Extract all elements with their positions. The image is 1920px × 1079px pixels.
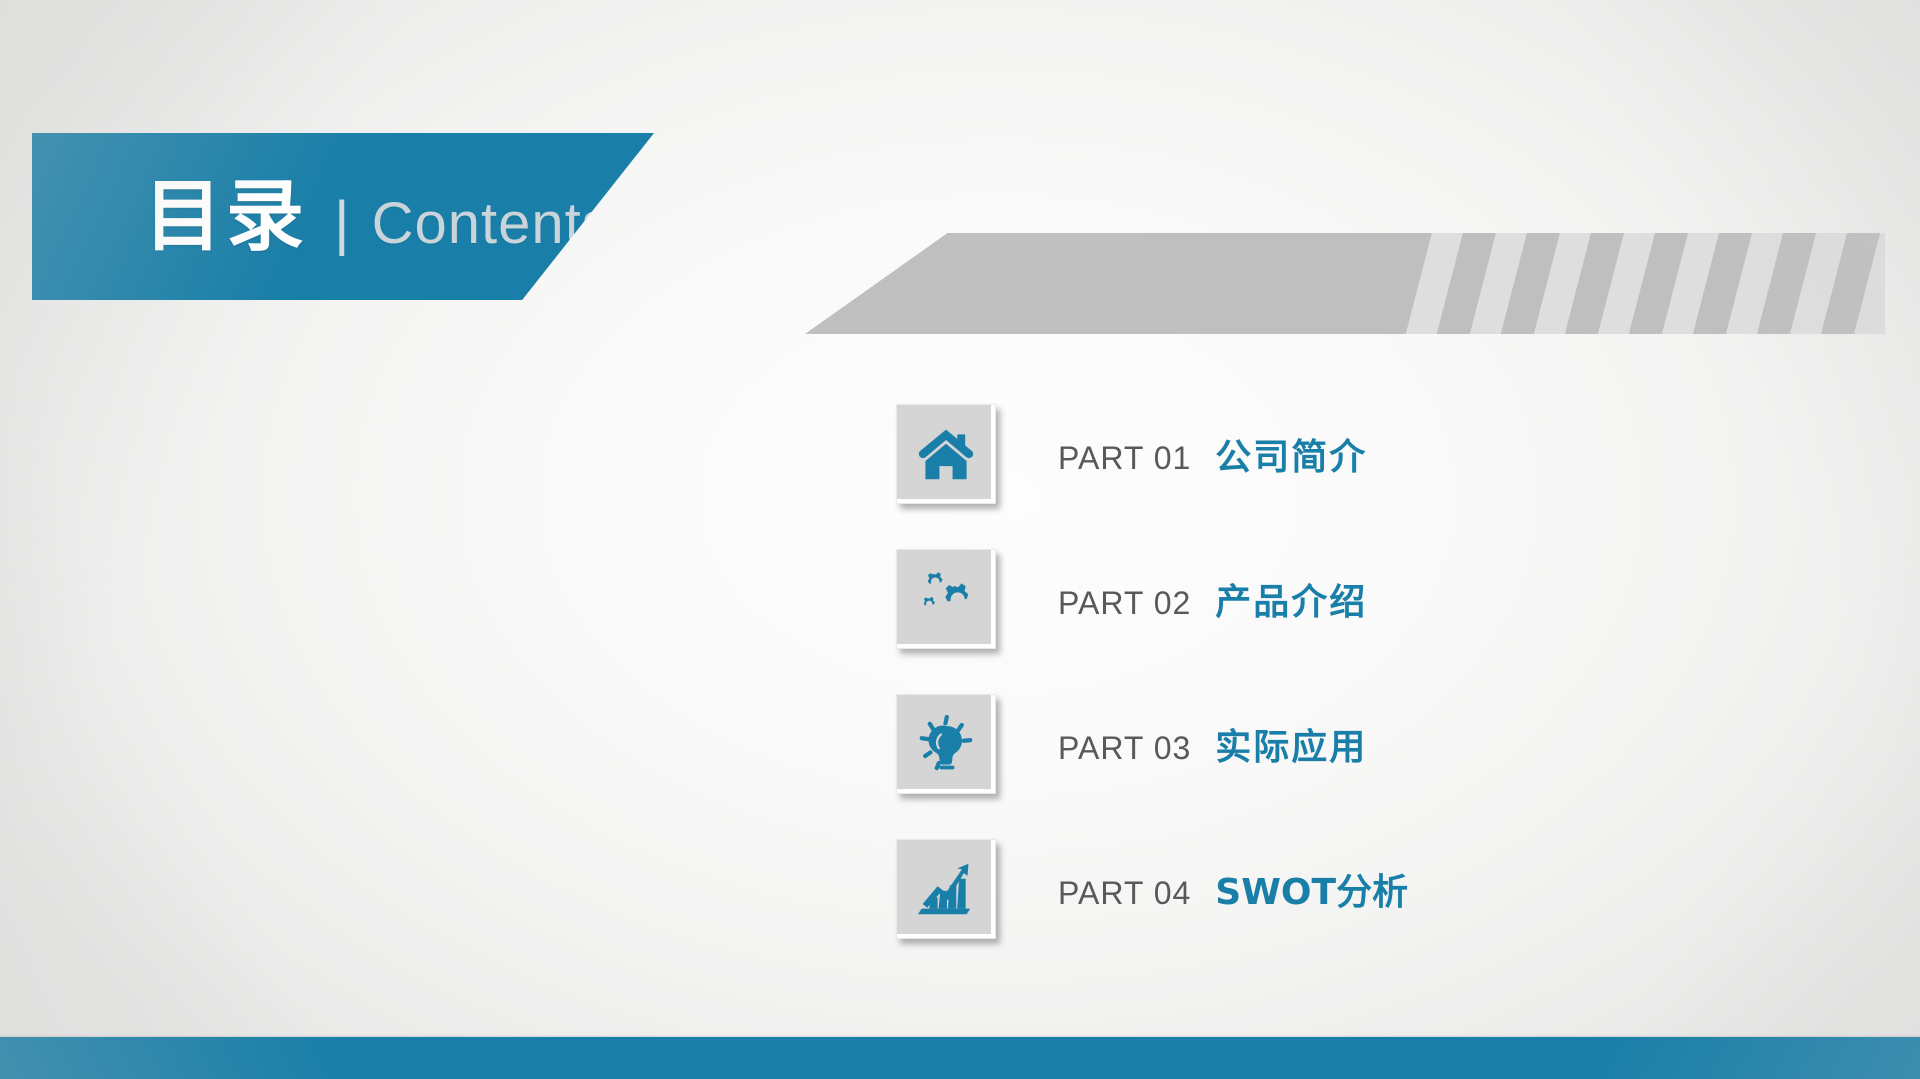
part-label: PART 04	[1058, 875, 1191, 912]
list-item-text: PART 04 SWOT分析	[1058, 863, 1408, 915]
gears-icon-glyph	[915, 570, 977, 628]
part-title: 产品介绍	[1215, 573, 1367, 625]
page-title-cn: 目录	[144, 178, 308, 256]
home-icon-glyph	[916, 425, 976, 483]
growth-chart-icon[interactable]	[896, 839, 996, 939]
title-banner: 目录 | Contents	[32, 133, 654, 300]
part-title: 公司简介	[1215, 428, 1367, 480]
list-item[interactable]: PART 04 SWOT分析	[896, 839, 1408, 939]
gears-icon[interactable]	[896, 549, 996, 649]
part-label: PART 03	[1058, 730, 1191, 767]
part-title: 实际应用	[1215, 718, 1367, 770]
list-item[interactable]: PART 03 实际应用	[896, 694, 1408, 794]
home-icon[interactable]	[896, 404, 996, 504]
title-text-group: 目录 | Contents	[144, 178, 612, 256]
list-item-text: PART 02 产品介绍	[1058, 573, 1367, 625]
part-title: SWOT分析	[1215, 863, 1408, 915]
page-title-en: Contents	[372, 195, 612, 253]
list-item-text: PART 01 公司简介	[1058, 428, 1367, 480]
footer-bar	[0, 1037, 1920, 1079]
diagonal-stripes-pattern	[1405, 233, 1885, 334]
list-item[interactable]: PART 01 公司简介	[896, 404, 1408, 504]
list-item-text: PART 03 实际应用	[1058, 718, 1367, 770]
slide-canvas: 目录 | Contents PART 01 公司简介	[0, 0, 1920, 1079]
growth-chart-icon-glyph	[915, 860, 977, 918]
title-separator: |	[334, 193, 350, 253]
lightbulb-icon[interactable]	[896, 694, 996, 794]
part-label: PART 01	[1058, 440, 1191, 477]
lightbulb-icon-glyph	[915, 714, 977, 774]
list-item[interactable]: PART 02 产品介绍	[896, 549, 1408, 649]
part-label: PART 02	[1058, 585, 1191, 622]
decorative-gray-banner	[805, 233, 1885, 334]
contents-list: PART 01 公司简介	[896, 404, 1408, 939]
